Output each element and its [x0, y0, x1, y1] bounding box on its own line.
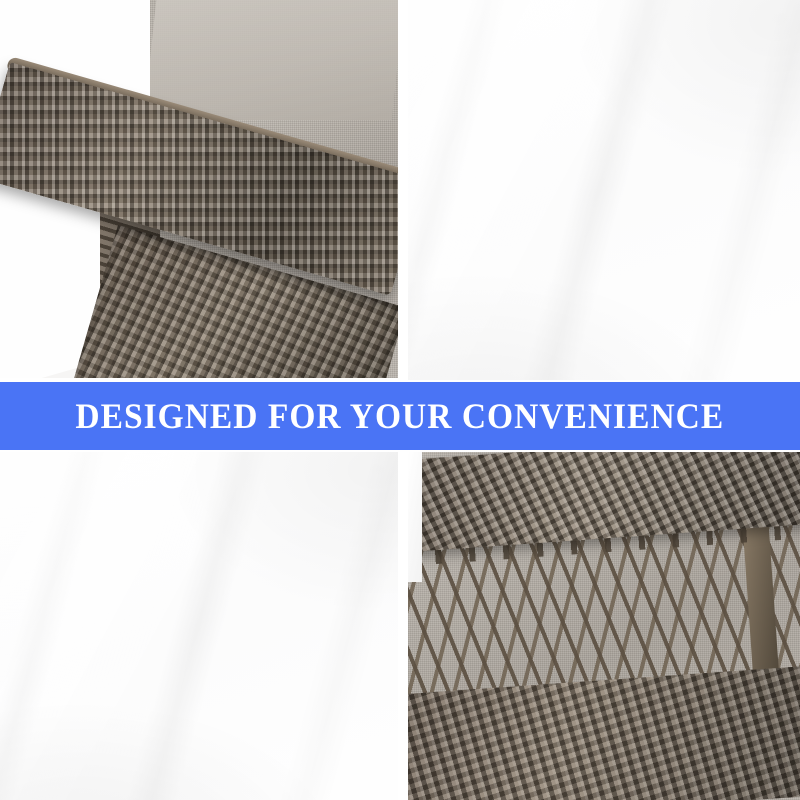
silk-background: [0, 452, 398, 800]
infographic-canvas: Wide armrests allow for more comfort DES…: [0, 0, 800, 800]
banner-headline: DESIGNED FOR YOUR CONVENIENCE: [76, 395, 725, 437]
photo-armrest: [0, 0, 398, 378]
cushion-backrest: [144, 0, 398, 120]
center-banner: DESIGNED FOR YOUR CONVENIENCE: [0, 382, 800, 450]
feature-panel-comfort: Wide armrests allow for more comfort: [400, 0, 800, 380]
hollowed-rattan-weave-photo: [408, 452, 800, 800]
photo-edge-highlight: [408, 452, 422, 582]
armrest-closeup-photo: [0, 0, 398, 378]
quadrant-gap-vertical-bottom: [398, 450, 408, 800]
quadrant-gap-vertical-top: [398, 0, 408, 382]
photo-hollowed-rattan: [408, 452, 800, 800]
feature-panel-rattan: Hollowed out rattan for more design: [0, 452, 398, 800]
silk-background: [400, 0, 800, 380]
